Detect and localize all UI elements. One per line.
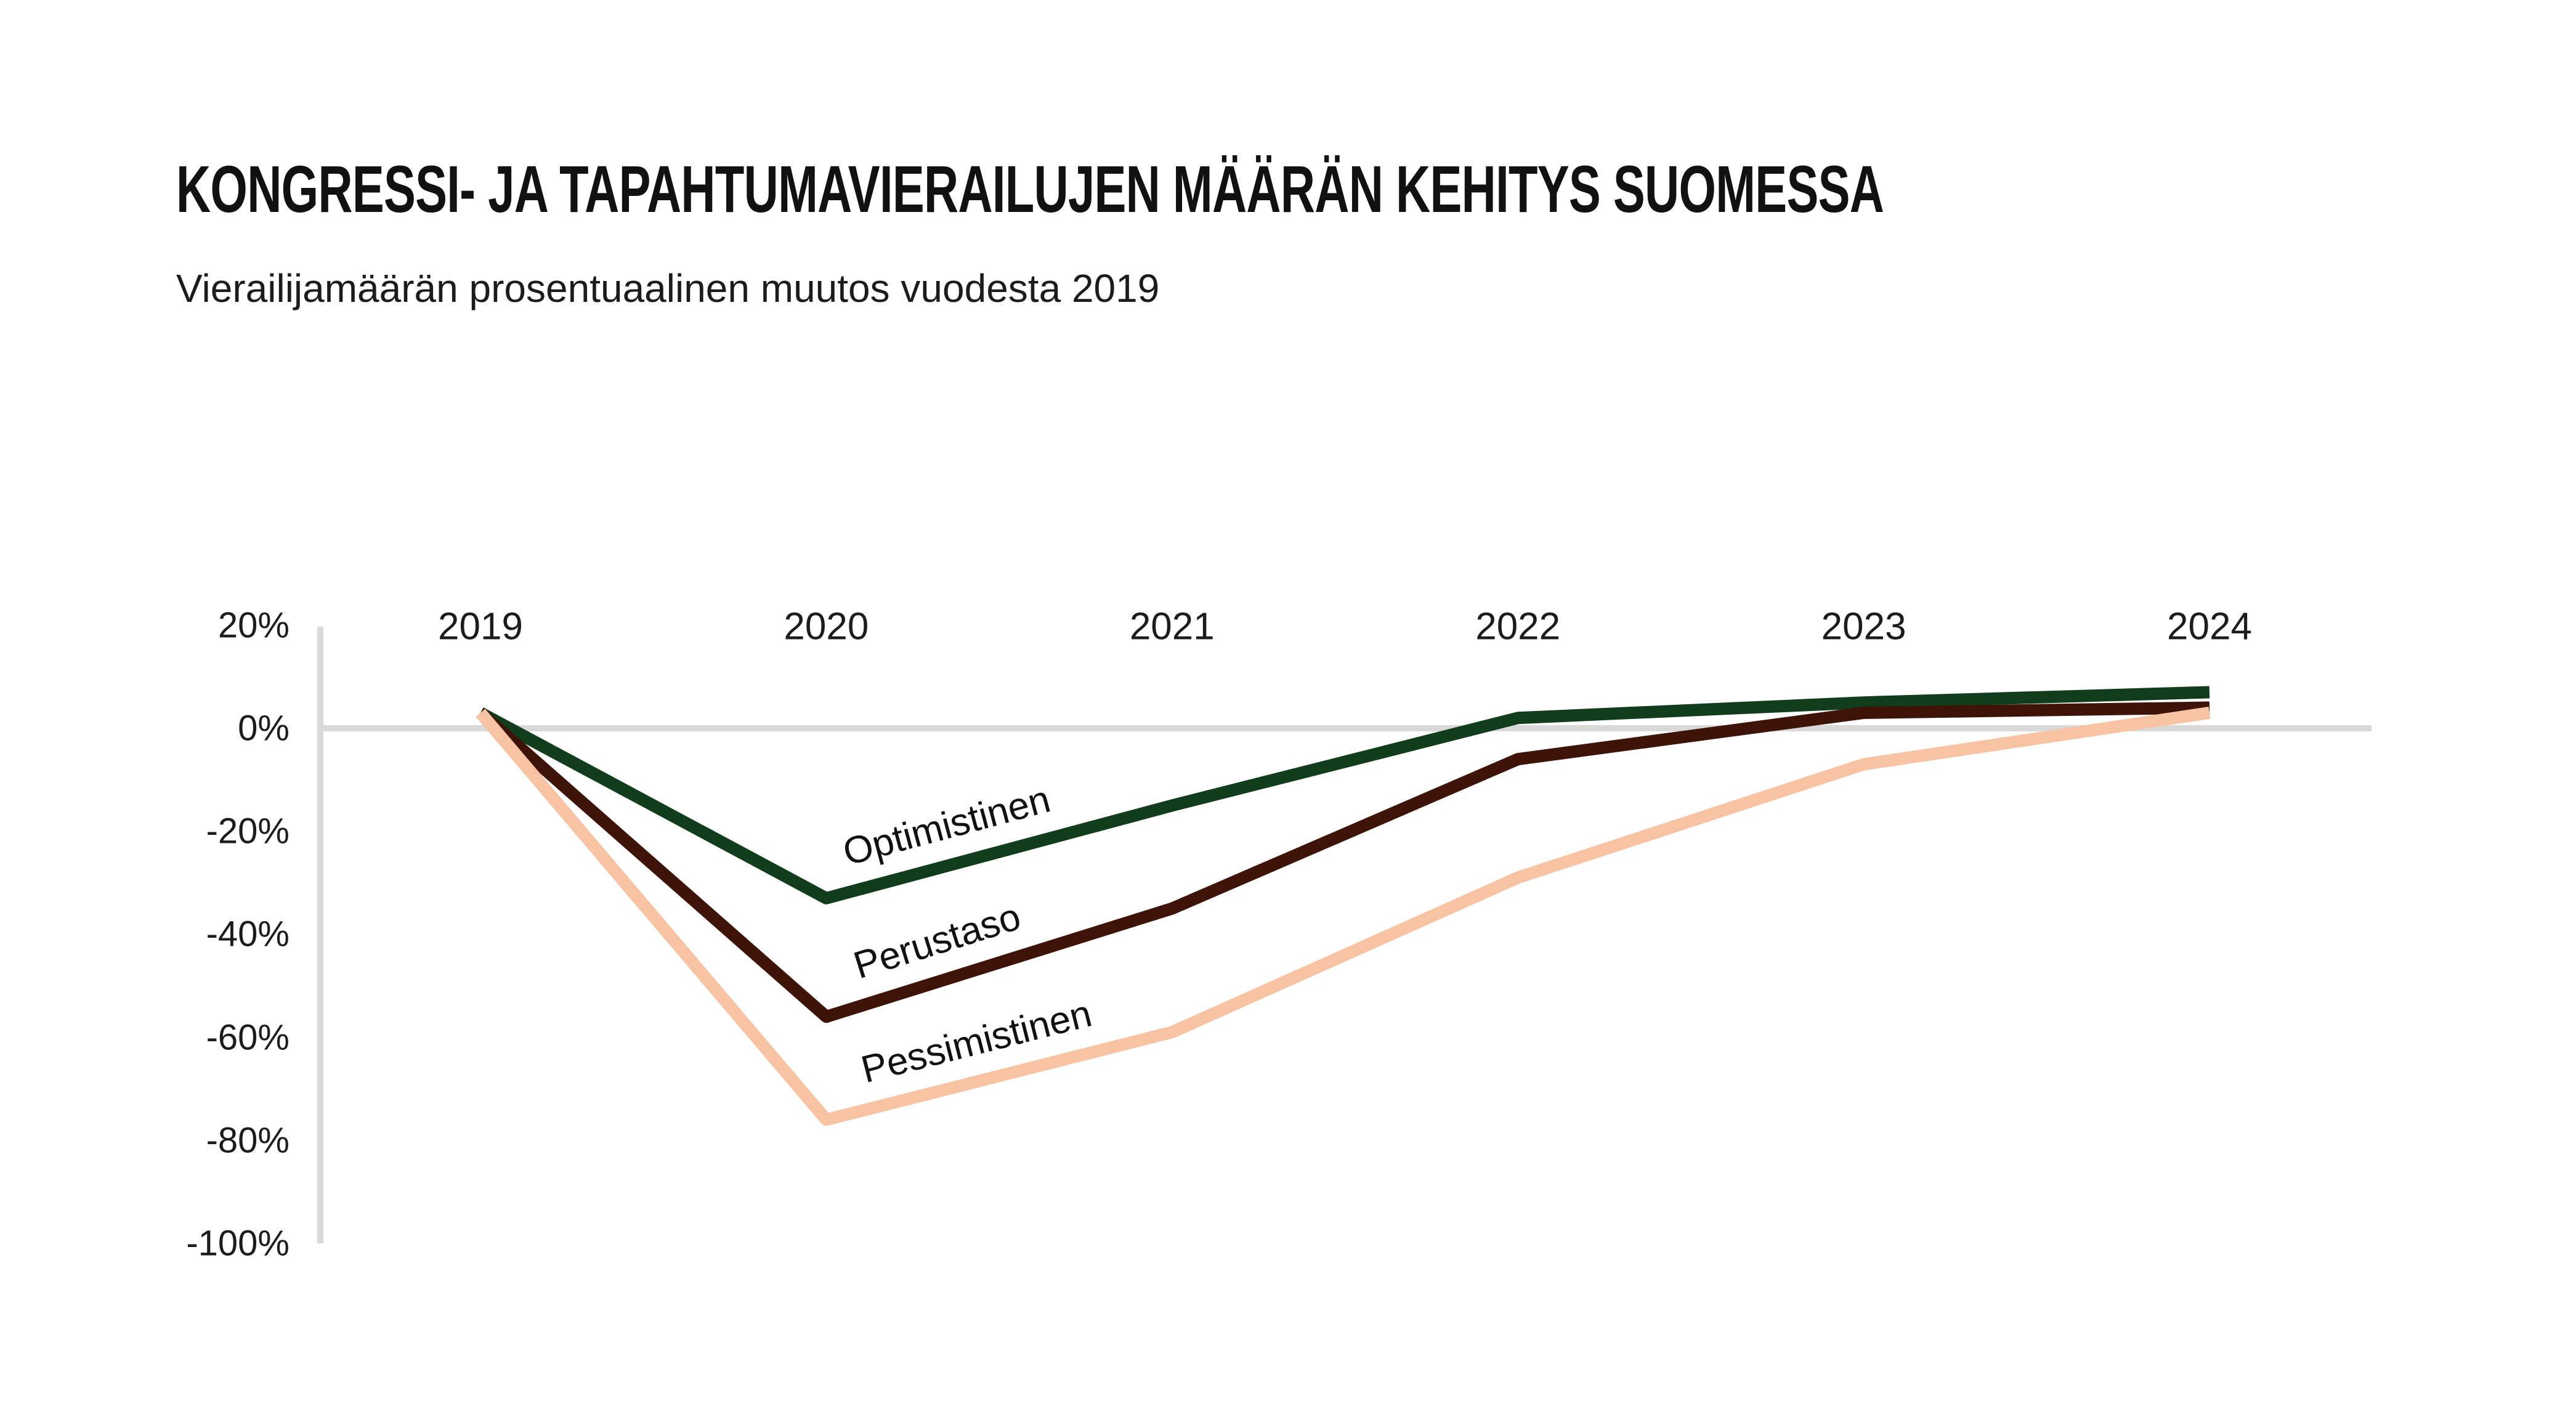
x-axis-tick-label-2022: 2022 — [1475, 605, 1560, 649]
x-axis-tick-labels: 201920202021202220232024 — [0, 0, 2576, 1414]
x-axis-tick-label-2019: 2019 — [438, 605, 523, 649]
chart-plot-area: 20%0%-20%-40%-60%-80%-100% 2019202020212… — [0, 0, 2576, 1414]
x-axis-tick-label-2020: 2020 — [784, 605, 869, 649]
x-axis-tick-label-2023: 2023 — [1821, 605, 1906, 649]
x-axis-tick-label-2021: 2021 — [1130, 605, 1215, 649]
x-axis-tick-label-2024: 2024 — [2167, 605, 2252, 649]
